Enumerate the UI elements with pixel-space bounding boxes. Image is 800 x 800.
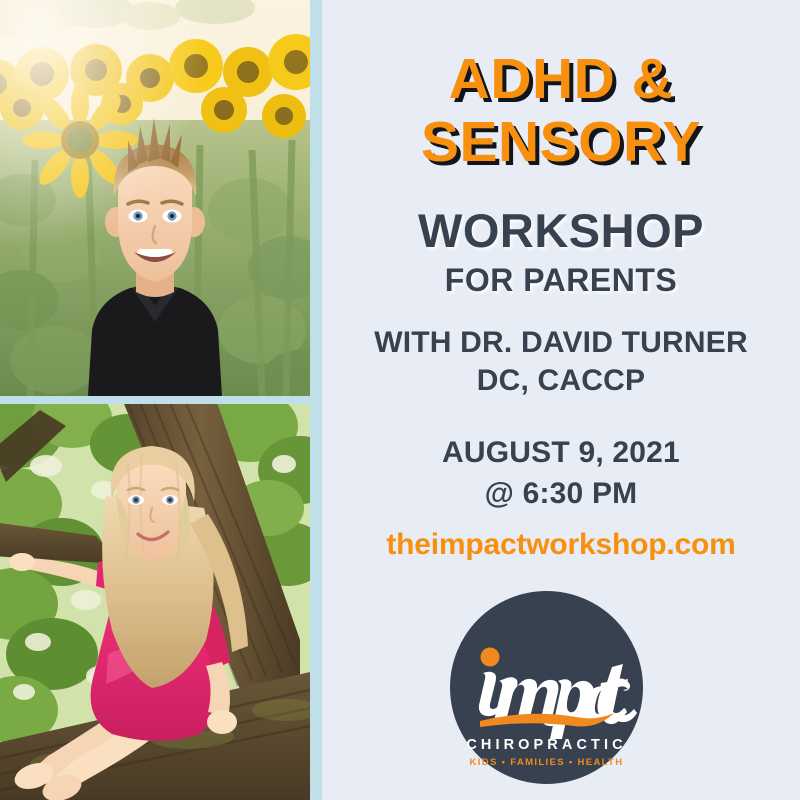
event-time: @ 6:30 PM bbox=[322, 474, 800, 515]
presenter-block: WITH DR. DAVID TURNER DC, CACCP bbox=[322, 324, 800, 399]
impact-chiropractic-logo: CHIROPRACTIC KIDS • FAMILIES • HEALTH bbox=[450, 591, 643, 784]
subtitle-workshop: WORKSHOP bbox=[322, 203, 800, 258]
headline-line-1: ADHD & bbox=[322, 48, 800, 111]
headline-line-2: SENSORY bbox=[322, 111, 800, 174]
event-date: AUGUST 9, 2021 bbox=[322, 433, 800, 474]
photo-girl-tree bbox=[0, 404, 310, 800]
website-url[interactable]: theimpactworkshop.com bbox=[322, 528, 800, 562]
presenter-credentials: DC, CACCP bbox=[322, 362, 800, 400]
page-title: ADHD & SENSORY bbox=[322, 48, 800, 173]
presenter-name: WITH DR. DAVID TURNER bbox=[322, 324, 800, 362]
logo-name: CHIROPRACTIC bbox=[466, 737, 626, 753]
photo-column bbox=[0, 0, 322, 800]
event-datetime-block: AUGUST 9, 2021 @ 6:30 PM bbox=[322, 433, 800, 514]
logo-tagline: KIDS • FAMILIES • HEALTH bbox=[470, 757, 624, 768]
subtitle-audience: FOR PARENTS bbox=[322, 262, 800, 299]
logo-i-dot bbox=[481, 648, 500, 667]
flyer-canvas: ADHD & SENSORY WORKSHOP FOR PARENTS WITH… bbox=[0, 0, 800, 800]
photo-boy-sunflowers bbox=[0, 0, 310, 396]
